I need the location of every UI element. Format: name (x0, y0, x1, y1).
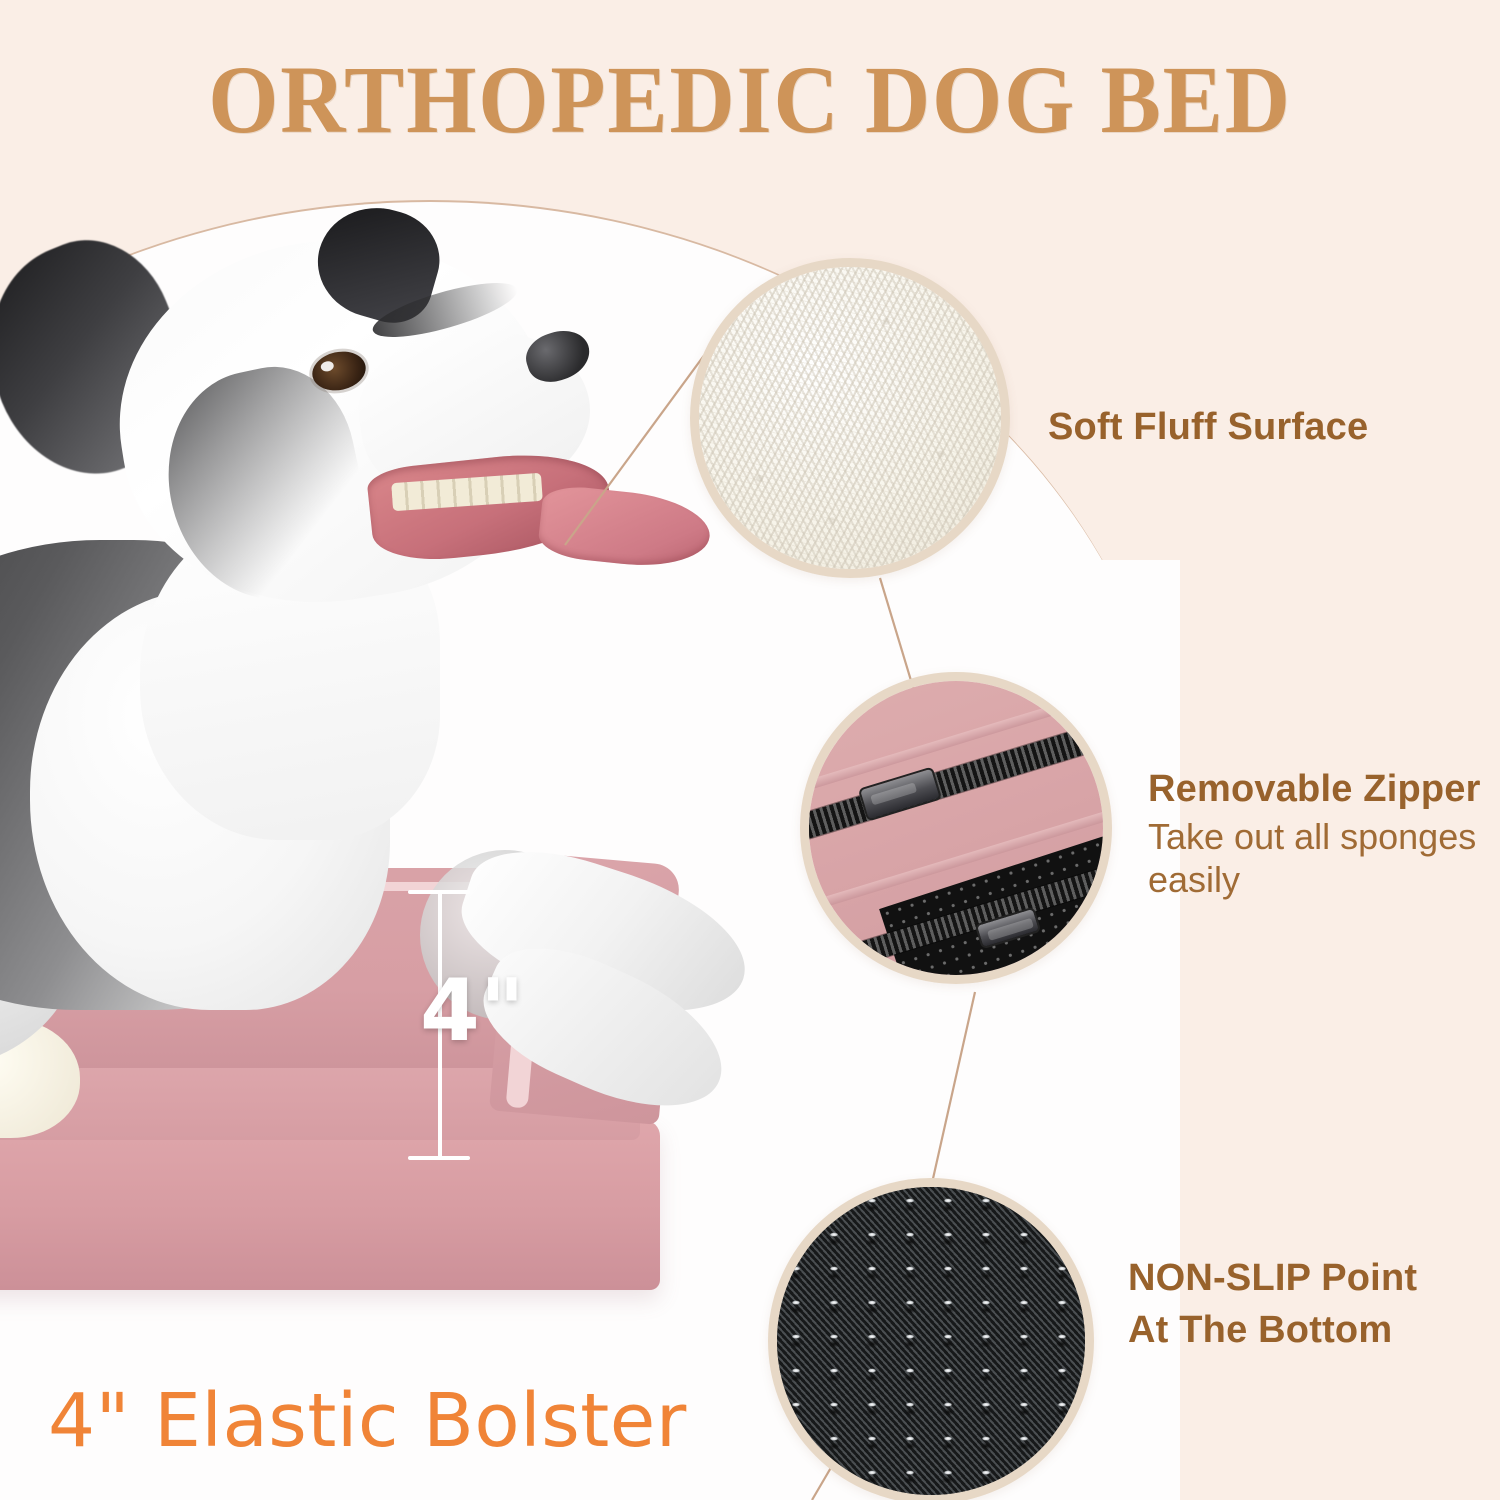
feature-heading-soft-fluff: Soft Fluff Surface (1048, 406, 1368, 449)
zipper-track-top (800, 702, 1112, 858)
feature-label-non-slip: NON-SLIP Point At The Bottom (1128, 1252, 1417, 1357)
feature-heading-removable-zipper: Removable Zipper (1148, 768, 1500, 811)
dimension-value: 4" (420, 968, 525, 1054)
feature-label-soft-fluff: Soft Fluff Surface (1048, 406, 1368, 449)
feature-label-removable-zipper: Removable Zipper Take out all sponges ea… (1148, 768, 1500, 902)
callout-non-slip[interactable] (768, 1178, 1094, 1500)
feature-description-removable-zipper: Take out all sponges easily (1148, 815, 1500, 903)
elastic-bolster-note: 4" Elastic Bolster (48, 1378, 687, 1464)
fluff-texture-swatch (699, 267, 1001, 569)
page-title: ORTHOPEDIC DOG BED (45, 44, 1455, 155)
dimension-tick-bottom (408, 1156, 470, 1160)
callout-soft-fluff[interactable] (690, 258, 1010, 578)
feature-heading-non-slip-line1: NON-SLIP Point (1128, 1252, 1417, 1304)
callout-removable-zipper[interactable] (800, 672, 1112, 984)
zipper-texture-swatch (809, 681, 1103, 975)
dog-tongue (537, 483, 714, 572)
infographic-canvas: ORTHOPEDIC DOG BED 4" (0, 0, 1500, 1500)
bolster-height-dimension: 4" (430, 890, 540, 1160)
non-slip-texture-swatch (777, 1187, 1085, 1495)
feature-heading-non-slip-line2: At The Bottom (1128, 1304, 1417, 1356)
zipper-pull-top[interactable] (858, 766, 943, 821)
